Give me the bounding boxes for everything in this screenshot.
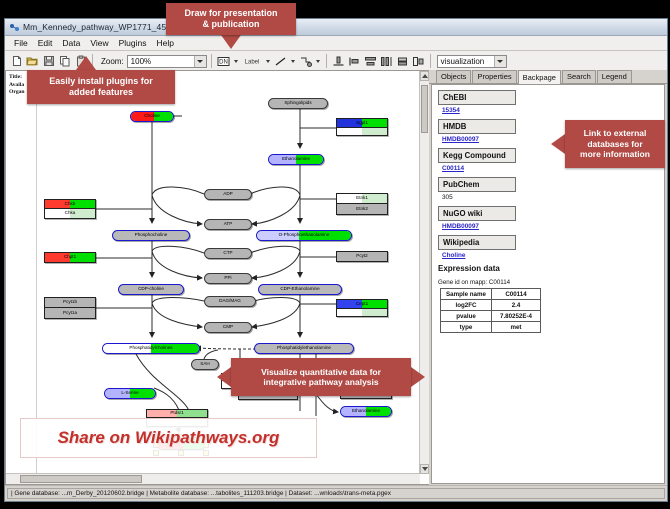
node-ctp[interactable]: CTP bbox=[204, 248, 252, 259]
db-header-wikipedia: Wikipedia bbox=[438, 235, 516, 250]
pathway-canvas[interactable]: Title: Availa Organ bbox=[6, 71, 420, 474]
visualize-callout: Visualize quantitative data for integrat… bbox=[231, 358, 411, 396]
node-label: Ptdsr1 bbox=[170, 411, 183, 416]
tab-search[interactable]: Search bbox=[562, 70, 596, 83]
node-cdp-choline[interactable]: CDP-choline bbox=[118, 284, 184, 295]
plugins-callout: Easily install plugins for added feature… bbox=[27, 70, 175, 104]
node-label: Sphingolipids bbox=[284, 101, 311, 106]
menu-data[interactable]: Data bbox=[57, 36, 85, 50]
menu-view[interactable]: View bbox=[85, 36, 113, 50]
node-label: ATP bbox=[224, 222, 233, 227]
cell-key: type bbox=[441, 322, 492, 333]
node-ptdsr1[interactable]: Ptdsr1 bbox=[146, 409, 208, 418]
align-top-icon[interactable] bbox=[331, 54, 346, 69]
node-pcyt1b[interactable]: Pcyt1b bbox=[44, 297, 96, 308]
title-bar: Mm_Kennedy_pathway_WP1771_45176.gpml bbox=[5, 19, 667, 36]
zoom-combo[interactable]: 100% bbox=[127, 55, 207, 68]
zoom-value: 100% bbox=[131, 57, 151, 66]
node-cept1-value[interactable] bbox=[336, 309, 388, 317]
db-link-nugo-wiki[interactable]: HMDB00097 bbox=[442, 223, 664, 230]
db-header-pubchem: PubChem bbox=[438, 177, 516, 192]
visualize-callout-arrow-right-icon bbox=[411, 367, 425, 387]
db-link-wikipedia[interactable]: Choline bbox=[442, 252, 664, 259]
node-chkb[interactable]: Chkb bbox=[44, 199, 96, 209]
cell-key: pvalue bbox=[441, 311, 492, 322]
node-label: Etnk1 bbox=[356, 196, 368, 201]
scroll-down-button[interactable] bbox=[420, 464, 429, 474]
open-folder-icon[interactable] bbox=[25, 54, 40, 69]
tab-legend[interactable]: Legend bbox=[597, 70, 632, 83]
distribute-horizontal-icon[interactable] bbox=[379, 54, 394, 69]
node-label: Pcyt2 bbox=[356, 254, 368, 259]
align-left-icon[interactable] bbox=[347, 54, 362, 69]
datanode-dropdown-icon[interactable] bbox=[234, 60, 238, 63]
node-cdp-ethanolamine[interactable]: CDP-Ethanolamine bbox=[258, 284, 342, 295]
table-row: log2FC 2.4 bbox=[441, 300, 541, 311]
expression-table: Sample name C00114 log2FC 2.4 pvalue 7.8… bbox=[440, 288, 541, 333]
node-label: CTP bbox=[223, 251, 232, 256]
db-value-pubchem: 305 bbox=[442, 194, 664, 201]
node-pcyt2[interactable]: Pcyt2 bbox=[336, 251, 388, 262]
cell-key: Sample name bbox=[441, 289, 492, 300]
callout-text: Visualize quantitative data for integrat… bbox=[261, 367, 381, 388]
scroll-up-button[interactable] bbox=[420, 71, 429, 81]
link-callout: Link to external databases for more info… bbox=[565, 120, 665, 168]
node-cmp[interactable]: CMP bbox=[204, 322, 252, 333]
node-label: Phosphocholine bbox=[135, 233, 168, 238]
visualize-callout-arrow-left-icon bbox=[217, 367, 231, 387]
node-dag-mag[interactable]: DAG/MAG bbox=[204, 296, 256, 307]
canvas-vertical-scrollbar[interactable] bbox=[419, 71, 429, 474]
callout-text: Easily install plugins for added feature… bbox=[49, 76, 153, 98]
screenshot-root: Mm_Kennedy_pathway_WP1771_45176.gpml Fil… bbox=[0, 0, 670, 509]
node-label: Pcyt1a bbox=[63, 311, 77, 316]
draw-callout: Draw for presentation & publication bbox=[166, 3, 296, 35]
side-panel-tabs: Objects Properties Backpage Search Legen… bbox=[429, 70, 667, 84]
menu-file[interactable]: File bbox=[9, 36, 33, 50]
node-adp[interactable]: ADP bbox=[204, 189, 252, 200]
horizontal-scroll-thumb[interactable] bbox=[20, 475, 142, 483]
db-header-chebi: ChEBI bbox=[438, 90, 516, 105]
db-header-hmdb: HMDB bbox=[438, 119, 516, 134]
node-label: CDP-choline bbox=[138, 287, 164, 292]
gene-id-line: Gene id on mapp: C00114 bbox=[438, 279, 664, 286]
db-header-kegg: Kegg Compound bbox=[438, 148, 516, 163]
node-atp[interactable]: ATP bbox=[204, 219, 252, 230]
node-label: PPi bbox=[224, 276, 231, 281]
cell-key: log2FC bbox=[441, 300, 492, 311]
node-label: Phosphatidylcholines bbox=[129, 346, 172, 351]
node-label: CDP-Ethanolamine bbox=[280, 287, 319, 292]
canvas-horizontal-scrollbar[interactable] bbox=[6, 473, 420, 484]
status-bar-text: | Gene database: ...m_Derby_20120602.bri… bbox=[7, 488, 665, 499]
draw-callout-arrow-down-icon bbox=[221, 35, 241, 49]
cell-value: C00114 bbox=[492, 289, 541, 300]
node-label: O-Phosphoethanolamine bbox=[279, 233, 330, 238]
plugins-callout-arrow-up-icon bbox=[76, 56, 96, 70]
node-ethanolamine-top[interactable]: Ethanolamine bbox=[268, 154, 324, 165]
node-label: Chkb bbox=[65, 202, 76, 207]
pathvisio-icon bbox=[9, 22, 20, 33]
tab-backpage[interactable]: Backpage bbox=[518, 70, 561, 84]
node-label: Phosphatidylethanolamine bbox=[277, 346, 331, 351]
label-dropdown-icon[interactable] bbox=[266, 60, 270, 63]
menu-bar: File Edit Data View Plugins Help bbox=[5, 36, 667, 51]
status-bar: | Gene database: ...m_Derby_20120602.bri… bbox=[5, 485, 667, 501]
svg-text:Label: Label bbox=[244, 60, 259, 66]
table-row: Sample name C00114 bbox=[441, 289, 541, 300]
node-pcyt1a[interactable]: Pcyt1a bbox=[44, 308, 96, 319]
node-label: Pcyt1b bbox=[63, 300, 77, 305]
node-o-phosphoethanolamine[interactable]: O-Phosphoethanolamine bbox=[256, 230, 352, 241]
toolbar-separator-4 bbox=[430, 54, 431, 68]
callout-text: Link to external databases for more info… bbox=[580, 128, 650, 159]
node-ethanolamine-right[interactable]: Ethanolamine bbox=[340, 406, 392, 417]
datanode-tool-icon[interactable]: DN bbox=[216, 54, 231, 69]
node-cept1[interactable]: Cept1 bbox=[336, 299, 388, 309]
node-label: Ethanolamine bbox=[282, 157, 310, 162]
anchor-tool-icon[interactable] bbox=[298, 54, 313, 69]
cell-value: 7.80252E-4 bbox=[492, 311, 541, 322]
svg-text:DN: DN bbox=[219, 59, 228, 65]
node-etnk2[interactable]: Etnk2 bbox=[336, 204, 388, 215]
node-sah[interactable]: SAH bbox=[191, 359, 219, 370]
node-label: Etnk2 bbox=[356, 207, 368, 212]
visualization-value: visualization bbox=[441, 57, 485, 66]
vertical-scroll-thumb[interactable] bbox=[421, 85, 428, 133]
cell-value: met bbox=[492, 322, 541, 333]
node-label: CMP bbox=[223, 325, 233, 330]
zoom-label: Zoom: bbox=[101, 57, 124, 66]
toolbar-separator-2 bbox=[211, 54, 212, 68]
node-label: ADP bbox=[223, 192, 232, 197]
node-phosphocholine[interactable]: Phosphocholine bbox=[112, 230, 190, 241]
node-etnk1[interactable]: Etnk1 bbox=[336, 193, 388, 204]
tab-objects[interactable]: Objects bbox=[436, 70, 471, 83]
save-icon[interactable] bbox=[41, 54, 56, 69]
node-label: Chka bbox=[65, 211, 76, 216]
expression-data-title: Expression data bbox=[438, 264, 664, 273]
link-callout-arrow-left-icon bbox=[551, 134, 565, 154]
db-link-chebi[interactable]: 15354 bbox=[442, 107, 664, 114]
table-row: type met bbox=[441, 322, 541, 333]
node-label: Ethanolamine bbox=[352, 409, 380, 414]
node-l-serine-left[interactable]: L-Serine bbox=[104, 388, 156, 399]
db-header-nugo-wiki: NuGO wiki bbox=[438, 206, 516, 221]
table-row: pvalue 7.80252E-4 bbox=[441, 311, 541, 322]
callout-text: Share on Wikipathways.org bbox=[58, 428, 280, 448]
toolbar: Zoom: 100% DN Label bbox=[5, 51, 667, 72]
node-label: Cept1 bbox=[356, 302, 368, 307]
label-tool-icon[interactable]: Label bbox=[241, 54, 263, 69]
node-label: Chpt1 bbox=[64, 255, 76, 260]
node-label: Sgpl1 bbox=[356, 121, 368, 126]
node-sgpl1-value[interactable] bbox=[336, 128, 388, 136]
node-chka[interactable]: Chka bbox=[44, 209, 96, 219]
node-ppi[interactable]: PPi bbox=[204, 273, 252, 284]
group-icon[interactable] bbox=[411, 54, 426, 69]
node-label: DAG/MAG bbox=[219, 299, 241, 304]
share-callout: Share on Wikipathways.org bbox=[20, 418, 317, 458]
menu-edit[interactable]: Edit bbox=[33, 36, 58, 50]
line-tool-icon[interactable] bbox=[273, 54, 288, 69]
menu-help[interactable]: Help bbox=[152, 36, 179, 50]
stack-icon[interactable] bbox=[395, 54, 410, 69]
tab-properties[interactable]: Properties bbox=[472, 70, 516, 83]
visualization-combo[interactable]: visualization bbox=[437, 55, 507, 68]
node-sgpl1[interactable]: Sgpl1 bbox=[336, 118, 388, 128]
node-label: Choline bbox=[144, 114, 160, 119]
copy-icon[interactable] bbox=[57, 54, 72, 69]
chevron-down-icon[interactable] bbox=[194, 56, 206, 67]
line-dropdown-icon[interactable] bbox=[291, 60, 295, 63]
cell-value: 2.4 bbox=[492, 300, 541, 311]
node-phosphatidylethanolamine[interactable]: Phosphatidylethanolamine bbox=[254, 343, 354, 354]
node-label: L-Serine bbox=[121, 391, 138, 396]
distribute-vertical-icon[interactable] bbox=[363, 54, 378, 69]
toolbar-separator-3 bbox=[326, 54, 327, 68]
node-sphingolipids[interactable]: Sphingolipids bbox=[268, 98, 328, 109]
visualization-chevron-down-icon[interactable] bbox=[494, 56, 506, 67]
callout-text: Draw for presentation & publication bbox=[184, 8, 277, 30]
new-file-icon[interactable] bbox=[9, 54, 24, 69]
menu-plugins[interactable]: Plugins bbox=[114, 36, 152, 50]
node-phosphatidylcholines[interactable]: Phosphatidylcholines bbox=[102, 343, 200, 354]
node-chpt1[interactable]: Chpt1 bbox=[44, 252, 96, 263]
anchor-dropdown-icon[interactable] bbox=[316, 60, 320, 63]
node-label: SAH bbox=[200, 362, 209, 367]
node-choline-top[interactable]: Choline bbox=[130, 111, 174, 122]
